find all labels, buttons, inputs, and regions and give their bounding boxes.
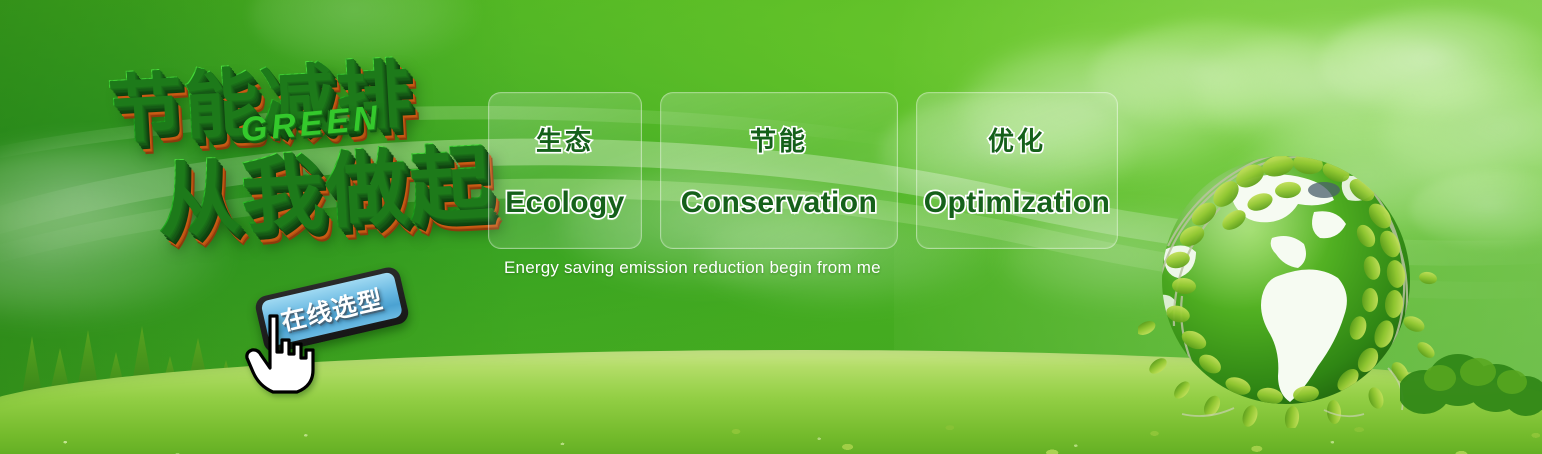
- tagline: Energy saving emission reduction begin f…: [504, 258, 881, 278]
- feature-card-optimization[interactable]: 优化 Optimization: [916, 92, 1118, 249]
- feature-card-conservation[interactable]: 节能 Conservation: [660, 92, 898, 249]
- feature-card-cn-label: 生态: [536, 121, 594, 158]
- leaf-litter: [643, 372, 1542, 454]
- feature-card-cn-label: 优化: [988, 121, 1046, 158]
- feature-card-ecology[interactable]: 生态 Ecology: [488, 92, 642, 249]
- feature-card-en-label: Optimization: [924, 186, 1110, 220]
- green-banner: 节能减排 GREEN 从我做起 在线选型 生态 Ecology 节能 Conse…: [0, 0, 1542, 454]
- feature-card-cn-label: 节能: [750, 121, 808, 158]
- feature-card-en-label: Ecology: [505, 186, 625, 220]
- feature-card-list: 生态 Ecology 节能 Conservation 优化 Optimizati…: [488, 92, 1118, 249]
- feature-card-en-label: Conservation: [681, 186, 878, 220]
